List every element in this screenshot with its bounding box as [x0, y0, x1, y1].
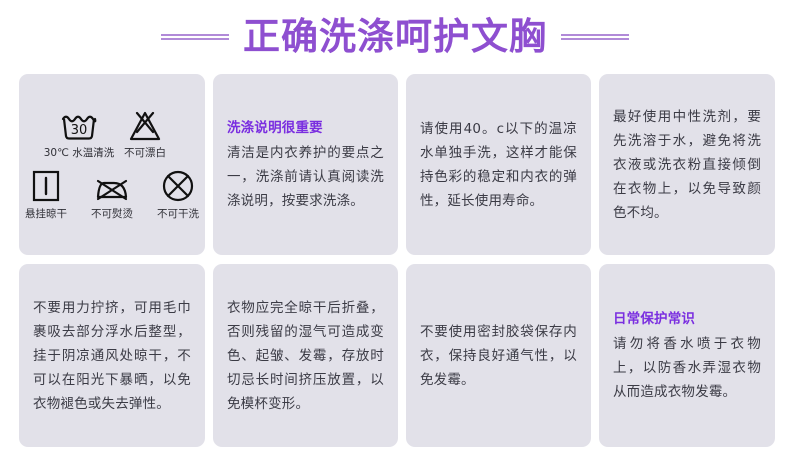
card-text: 请勿将香水喷于衣物上，以防香水弄湿衣物从而造成衣物发霉。 — [613, 332, 761, 404]
care-symbol-hang-dry: 悬挂晾干 — [20, 169, 72, 222]
card-storage-folding: 衣物应完全晾干后折叠，否则残留的湿气可造成变色、起皱、发霉，存放时切忌长时间挤压… — [213, 264, 398, 447]
card-text: 请使用40。c以下的温凉水单独手洗，这样才能保持色彩的稳定和内衣的弹性，延长使用… — [420, 117, 577, 213]
care-symbol-row-1: 30 30℃ 水温清洗 — [53, 108, 171, 161]
care-symbol-no-iron: 不可熨烫 — [86, 169, 138, 222]
care-symbol-no-bleach: 不可漂白 — [119, 108, 171, 161]
card-heading: 洗涤说明很重要 — [227, 117, 384, 139]
card-heading: 日常保护常识 — [613, 308, 761, 330]
care-symbol-label: 不可漂白 — [124, 145, 166, 161]
care-symbol-panel: 30 30℃ 水温清洗 — [19, 74, 205, 255]
card-body: 日常保护常识 请勿将香水喷于衣物上，以防香水弄湿衣物从而造成衣物发霉。 — [599, 264, 775, 447]
card-daily-care-tips: 日常保护常识 请勿将香水喷于衣物上，以防香水弄湿衣物从而造成衣物发霉。 — [599, 264, 775, 447]
card-text: 衣物应完全晾干后折叠，否则残留的湿气可造成变色、起皱、发霉，存放时切忌长时间挤压… — [227, 296, 384, 416]
no-bleach-triangle-icon — [125, 108, 165, 142]
card-water-temperature: 请使用40。c以下的温凉水单独手洗，这样才能保持色彩的稳定和内衣的弹性，延长使用… — [406, 74, 591, 255]
care-symbol-no-dry-clean: 不可干洗 — [152, 169, 204, 222]
card-body: 最好使用中性洗剂，要先洗溶于水，避免将洗衣液或洗衣粉直接倾倒在衣物上，以免导致颜… — [599, 74, 775, 255]
care-symbol-label: 30℃ 水温清洗 — [44, 145, 115, 161]
wash-tub-30-icon: 30 — [57, 108, 101, 142]
card-text: 清洁是内衣养护的要点之一，洗涤前请认真阅读洗涤说明，按要求洗涤。 — [227, 141, 384, 213]
card-grid: 30 30℃ 水温清洗 — [19, 74, 775, 447]
no-iron-icon — [92, 169, 132, 203]
care-symbol-row-2: 悬挂晾干 不可熨烫 — [20, 169, 204, 222]
card-row-2: 不要用力拧挤，可用毛巾裹吸去部分浮水后整型，挂于阴凉通风处晾干，不可以在阳光下暴… — [19, 264, 775, 447]
card-text: 不要用力拧挤，可用毛巾裹吸去部分浮水后整型，挂于阴凉通风处晾干，不可以在阳光下暴… — [33, 296, 191, 416]
hang-dry-square-icon — [30, 169, 62, 203]
title-right-rule-icon — [561, 34, 629, 40]
card-drying-method: 不要用力拧挤，可用毛巾裹吸去部分浮水后整型，挂于阴凉通风处晾干，不可以在阳光下暴… — [19, 264, 205, 447]
no-dry-clean-circle-icon — [161, 169, 195, 203]
card-row-1: 30 30℃ 水温清洗 — [19, 74, 775, 255]
card-washing-instructions: 洗涤说明很重要 清洁是内衣养护的要点之一，洗涤前请认真阅读洗涤说明，按要求洗涤。 — [213, 74, 398, 255]
care-symbol-label: 不可熨烫 — [91, 206, 133, 222]
card-no-sealed-bag: 不要使用密封胶袋保存内衣，保持良好通气性，以免发霉。 — [406, 264, 591, 447]
card-body: 请使用40。c以下的温凉水单独手洗，这样才能保持色彩的稳定和内衣的弹性，延长使用… — [406, 74, 591, 255]
card-body: 不要使用密封胶袋保存内衣，保持良好通气性，以免发霉。 — [406, 264, 591, 447]
care-symbol-label: 不可干洗 — [157, 206, 199, 222]
card-body: 洗涤说明很重要 清洁是内衣养护的要点之一，洗涤前请认真阅读洗涤说明，按要求洗涤。 — [213, 74, 398, 255]
card-text: 不要使用密封胶袋保存内衣，保持良好通气性，以免发霉。 — [420, 320, 577, 392]
card-text: 最好使用中性洗剂，要先洗溶于水，避免将洗衣液或洗衣粉直接倾倒在衣物上，以免导致颜… — [613, 105, 761, 225]
card-body: 不要用力拧挤，可用毛巾裹吸去部分浮水后整型，挂于阴凉通风处晾干，不可以在阳光下暴… — [19, 264, 205, 447]
card-body: 衣物应完全晾干后折叠，否则残留的湿气可造成变色、起皱、发霉，存放时切忌长时间挤压… — [213, 264, 398, 447]
care-instructions-page: 正确洗涤呵护文胸 30 — [0, 0, 790, 468]
svg-text:30: 30 — [71, 123, 88, 138]
care-symbol-label: 悬挂晾干 — [25, 206, 67, 222]
card-neutral-detergent: 最好使用中性洗剂，要先洗溶于水，避免将洗衣液或洗衣粉直接倾倒在衣物上，以免导致颜… — [599, 74, 775, 255]
card-care-symbols: 30 30℃ 水温清洗 — [19, 74, 205, 255]
title-left-rule-icon — [161, 34, 229, 40]
care-symbol-wash-tub: 30 30℃ 水温清洗 — [53, 108, 105, 161]
page-title: 正确洗涤呵护文胸 — [243, 15, 547, 59]
page-title-bar: 正确洗涤呵护文胸 — [0, 12, 790, 62]
